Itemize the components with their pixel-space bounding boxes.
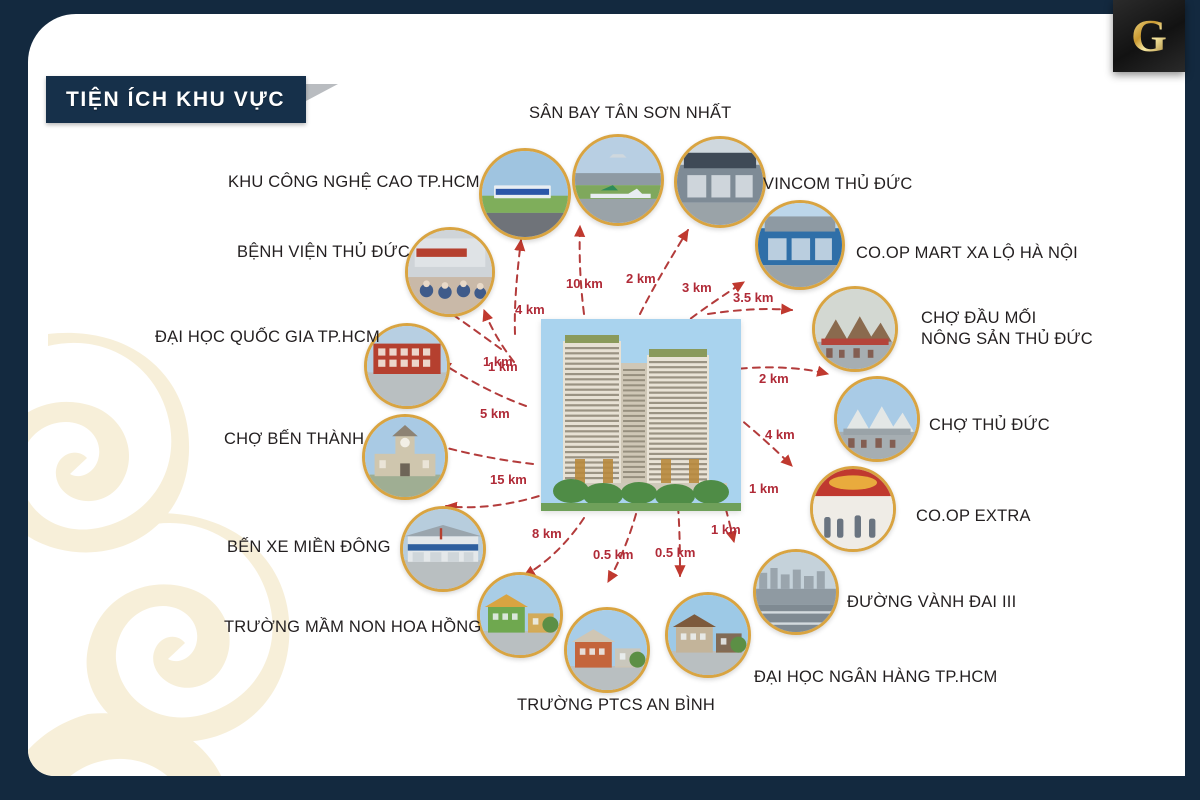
distance-label-duong-vanh-dai-iii: 1 km [749, 481, 779, 496]
coop-extra-photo [810, 466, 896, 552]
distance-label-truong-ptcs-an-binh: 0.5 km [655, 545, 695, 560]
poi-circle-san-bay-tan-son-nhat[interactable] [572, 134, 664, 226]
distance-label-cho-ben-thanh: 15 km [490, 472, 527, 487]
poi-label-vincom-thu-duc: VINCOM THỦ ĐỨC [763, 174, 913, 195]
poi-circle-vincom-thu-duc[interactable] [674, 136, 766, 228]
cho-ben-thanh-photo [362, 414, 448, 500]
distance-label-cho-dau-moi-nong-san-thu-duc: 3.5 km [733, 290, 773, 305]
infographic-root: KHU CÔNG NGHỆ CAO TP.HCM4 km SÂN BAY TÂN… [0, 0, 1200, 800]
poi-label-coop-mart-xa-lo-ha-noi: CO.OP MART XA LỘ HÀ NỘI [856, 243, 1078, 264]
page-title: TIỆN ÍCH KHU VỰC [46, 88, 285, 112]
distance-label-coop-mart-xa-lo-ha-noi: 3 km [682, 280, 712, 295]
distance-label-dai-hoc-quoc-gia: 5 km [480, 406, 510, 421]
dai-hoc-ngan-hang-photo [665, 592, 751, 678]
poi-circle-cho-ben-thanh[interactable] [362, 414, 448, 500]
poi-circle-truong-ptcs-an-binh[interactable] [564, 607, 650, 693]
poi-label-cho-thu-duc: CHỢ THỦ ĐỨC [929, 415, 1050, 436]
poi-circle-ben-xe-mien-dong[interactable] [400, 506, 486, 592]
ben-xe-mien-dong-photo [400, 506, 486, 592]
poi-label-cho-ben-thanh: CHỢ BẾN THÀNH [224, 429, 364, 450]
poi-label-ben-xe-mien-dong: BẾN XE MIỀN ĐÔNG [227, 537, 391, 558]
vincom-thu-duc-photo [674, 136, 766, 228]
poi-label-dai-hoc-ngan-hang: ĐẠI HỌC NGÂN HÀNG TP.HCM [754, 667, 997, 688]
poi-label-khu-cong-nghe-cao: KHU CÔNG NGHỆ CAO TP.HCM [228, 172, 480, 193]
white-content-panel: KHU CÔNG NGHỆ CAO TP.HCM4 km SÂN BAY TÂN… [28, 14, 1185, 776]
poi-label-coop-extra: CO.OP EXTRA [916, 506, 1031, 527]
distance-label-benh-vien-thu-duc: 1 km [483, 354, 513, 369]
brand-logo-badge[interactable]: G [1113, 0, 1185, 72]
poi-circle-coop-mart-xa-lo-ha-noi[interactable] [755, 200, 845, 290]
poi-circle-truong-mam-non-hoa-hong[interactable] [477, 572, 563, 658]
poi-circle-cho-dau-moi-nong-san-thu-duc[interactable] [812, 286, 898, 372]
san-bay-tan-son-nhat-photo [572, 134, 664, 226]
central-project-building [541, 319, 741, 511]
poi-label-truong-mam-non-hoa-hong: TRƯỜNG MẦM NON HOA HỒNG [224, 617, 481, 638]
cho-thu-duc-photo [834, 376, 920, 462]
cho-dau-moi-photo [812, 286, 898, 372]
poi-label-cho-dau-moi-nong-san-thu-duc: CHỢ ĐẦU MỐI NÔNG SẢN THỦ ĐỨC [921, 308, 1093, 350]
ribbon-tail-triangle [306, 84, 338, 118]
poi-circle-duong-vanh-dai-iii[interactable] [753, 549, 839, 635]
poi-circle-dai-hoc-ngan-hang[interactable] [665, 592, 751, 678]
poi-label-dai-hoc-quoc-gia: ĐẠI HỌC QUỐC GIA TP.HCM [155, 327, 380, 348]
brand-logo-letter: G [1131, 13, 1167, 59]
distance-label-vincom-thu-duc: 2 km [626, 271, 656, 286]
poi-label-benh-vien-thu-duc: BỆNH VIỆN THỦ ĐỨC [237, 242, 410, 263]
poi-label-san-bay-tan-son-nhat: SÂN BAY TÂN SƠN NHẤT [529, 103, 731, 124]
distance-label-san-bay-tan-son-nhat: 10 km [566, 276, 603, 291]
distance-label-khu-cong-nghe-cao: 4 km [515, 302, 545, 317]
distance-label-ben-xe-mien-dong: 8 km [532, 526, 562, 541]
poi-label-duong-vanh-dai-iii: ĐƯỜNG VÀNH ĐAI III [847, 592, 1016, 613]
truong-ptcs-an-binh-photo [564, 607, 650, 693]
distance-label-dai-hoc-ngan-hang: 1 km [711, 522, 741, 537]
distance-label-coop-extra: 4 km [765, 427, 795, 442]
poi-circle-cho-thu-duc[interactable] [834, 376, 920, 462]
section-title-ribbon: TIỆN ÍCH KHU VỰC [46, 76, 306, 123]
poi-circle-coop-extra[interactable] [810, 466, 896, 552]
distance-label-truong-mam-non-hoa-hong: 0.5 km [593, 547, 633, 562]
benh-vien-thu-duc-photo [405, 227, 495, 317]
poi-circle-benh-vien-thu-duc[interactable] [405, 227, 495, 317]
poi-label-truong-ptcs-an-binh: TRƯỜNG PTCS AN BÌNH [517, 695, 715, 716]
coop-mart-photo [755, 200, 845, 290]
duong-vanh-dai-photo [753, 549, 839, 635]
distance-label-cho-thu-duc: 2 km [759, 371, 789, 386]
truong-mam-non-photo [477, 572, 563, 658]
